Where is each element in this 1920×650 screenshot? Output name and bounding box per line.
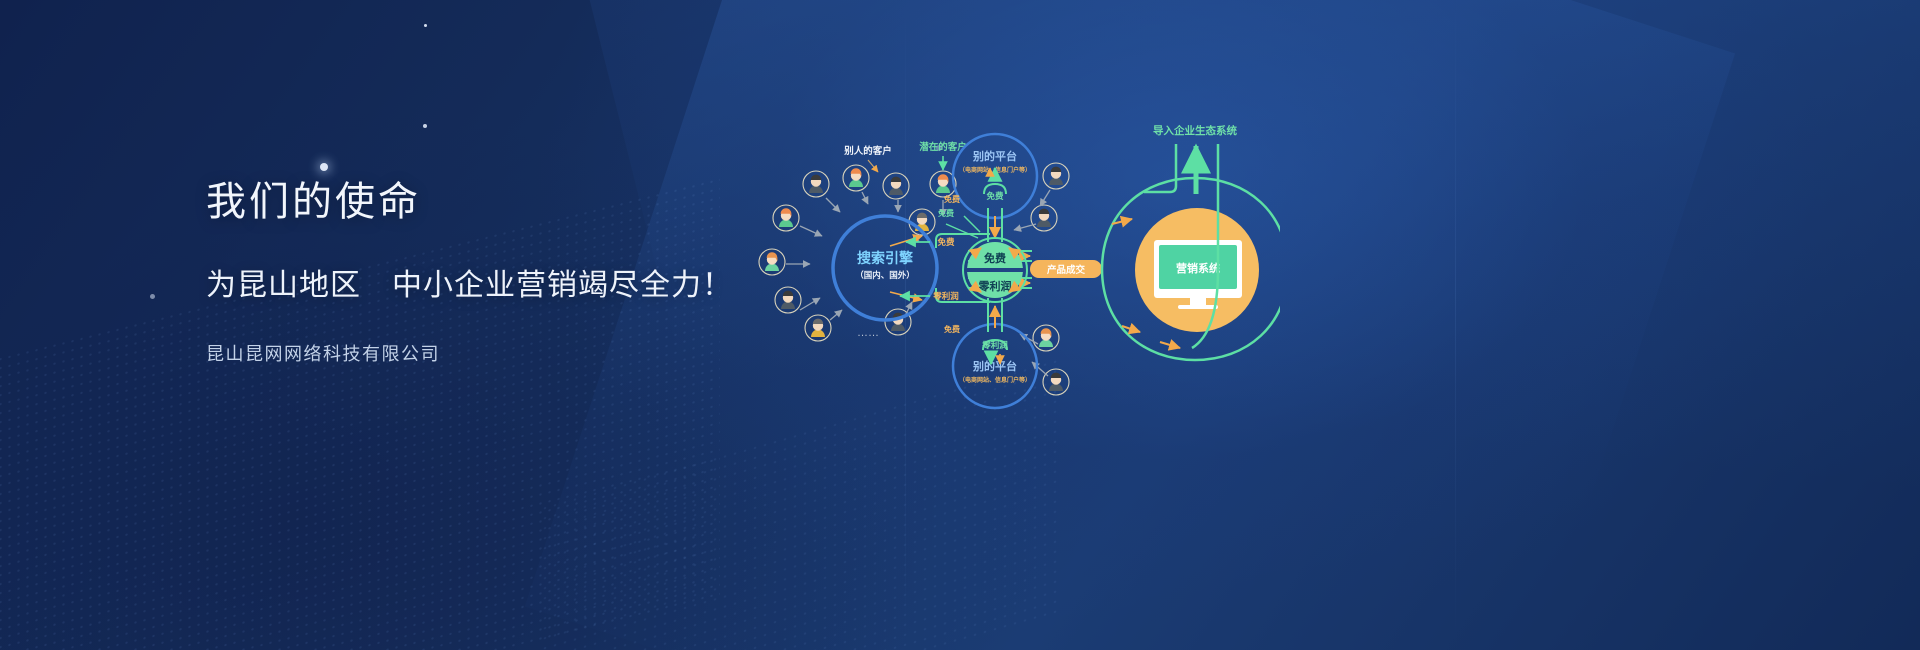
label-others-customers: 别人的客户 bbox=[843, 145, 892, 157]
customer-avatar bbox=[805, 315, 831, 341]
page-title: 我们的使命 bbox=[206, 178, 826, 226]
platform-top-title: 别的平台 bbox=[972, 149, 1017, 163]
customer-avatar bbox=[773, 205, 799, 231]
flow-label-zero-profit-left: 零利润 bbox=[932, 291, 959, 301]
customer-avatar bbox=[883, 173, 909, 199]
hero-subtitle: 为昆山地区 中小企业营销竭尽全力！ bbox=[206, 260, 826, 304]
label-import-ecosystem: 导入企业生态系统 bbox=[1153, 124, 1237, 137]
label-others-arrow bbox=[868, 160, 878, 172]
platform-top-badge: 免费 bbox=[986, 191, 1004, 201]
hub-bottom-label: 零利润 bbox=[978, 279, 1012, 293]
flow-label-free-bottom: 免费 bbox=[944, 324, 960, 334]
flow-label-free-hub: 免费 bbox=[938, 208, 954, 218]
decorative-dot bbox=[320, 163, 328, 171]
hub-node: 免费 零利润 bbox=[963, 238, 1027, 302]
search-engine-subtitle: （国内、国外） bbox=[855, 270, 915, 280]
search-engine-title: 搜索引擎 bbox=[857, 250, 913, 266]
marketing-ecosystem-diagram: 别人的客户 潜在的客户 …… 搜索引擎 （国内、国外） 免费 零利润 bbox=[740, 120, 1280, 420]
customer-avatar bbox=[803, 171, 829, 197]
hero-banner: 我们的使命 为昆山地区 中小企业营销竭尽全力！ 昆山昆网网络科技有限公司 bbox=[0, 0, 1920, 650]
deal-badge-label: 产品成交 bbox=[1047, 264, 1086, 276]
platform-bottom-title: 别的平台 bbox=[972, 359, 1017, 373]
background-vertical-line bbox=[1455, 0, 1456, 650]
customer-avatar bbox=[1033, 325, 1059, 351]
hub-free-connector bbox=[964, 216, 980, 232]
customer-avatar bbox=[1043, 163, 1069, 189]
customer-avatar bbox=[759, 249, 785, 275]
decorative-dot bbox=[423, 124, 427, 128]
decorative-dot bbox=[424, 24, 427, 27]
flow-label-free-left: 免费 bbox=[937, 237, 955, 247]
company-name: 昆山昆网网络科技有限公司 bbox=[206, 340, 826, 366]
decorative-dot bbox=[150, 294, 155, 299]
hero-copy: 我们的使命 为昆山地区 中小企业营销竭尽全力！ 昆山昆网网络科技有限公司 bbox=[206, 178, 826, 366]
customer-avatar bbox=[775, 287, 801, 313]
flow-label-free-top: 免费 bbox=[944, 194, 960, 204]
ellipsis-label: …… bbox=[857, 327, 879, 339]
hub-top-label: 免费 bbox=[984, 251, 1006, 265]
customer-avatar bbox=[1043, 369, 1069, 395]
marketing-system-label: 营销系统 bbox=[1176, 261, 1220, 275]
platform-bottom-badge: 零利润 bbox=[981, 340, 1008, 350]
customer-avatar bbox=[843, 165, 869, 191]
customer-avatar bbox=[1031, 205, 1057, 231]
platform-bottom-subtitle: （电商网站、信息门户等） bbox=[959, 376, 1031, 384]
search-engine-circle bbox=[833, 216, 937, 320]
